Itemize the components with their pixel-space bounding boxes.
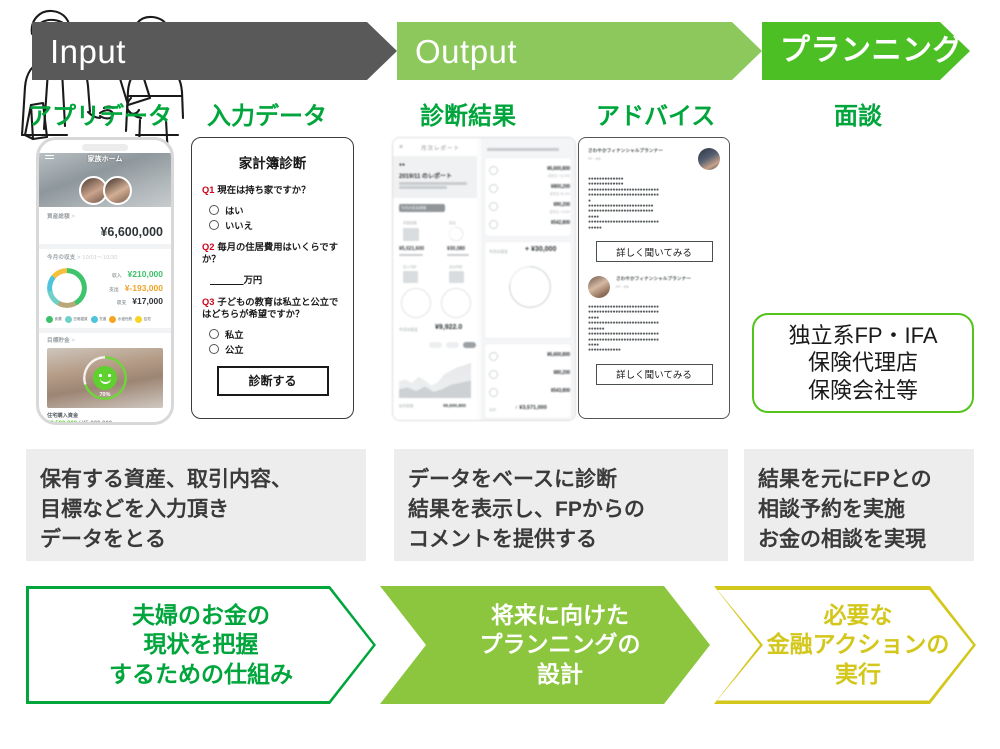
flow-arrow-input: Input	[32, 22, 397, 80]
process-flow-arrows: Input Output プランニング	[0, 22, 1000, 80]
total-assets-value: ¥6,600,000	[47, 225, 163, 239]
balance-label: 今月の収支	[399, 328, 418, 333]
highlight-value: + ¥30,000	[525, 246, 556, 253]
bubble-line-1: 独立系FP・IFA	[788, 322, 937, 350]
meeting-callout-bubble: 独立系FP・IFA 保険代理店 保険会社等	[752, 313, 974, 413]
bullet-icon	[489, 166, 498, 175]
list-item: 水道光熱	[109, 316, 132, 323]
donut-chart	[509, 266, 551, 308]
chevron-line: するための仕組み	[109, 661, 293, 687]
question-2: Q2毎月の住居費用はいくらですか？	[202, 241, 343, 266]
table-row	[489, 202, 498, 211]
radio-icon[interactable]	[209, 344, 219, 354]
radio-option[interactable]: はい	[209, 203, 343, 217]
caption-line: 相談予約を実施	[758, 495, 960, 525]
list-value: ¥6,600,800	[547, 352, 570, 358]
caption-line: データをとる	[40, 525, 352, 555]
chart-footer-label: 総資産額	[399, 404, 413, 409]
caption-line: お金の相談を実現	[758, 525, 960, 555]
planner-header-2: さわやかフィナンシャルプランナー FP・IFA	[588, 276, 720, 298]
radio-icon[interactable]	[209, 329, 219, 339]
list-subvalue: 前年比 +12,000	[548, 173, 570, 178]
goal-percent: 70%	[99, 392, 110, 398]
table-row	[489, 388, 498, 397]
chevron-line: 必要な	[797, 602, 892, 628]
bullet-icon	[489, 220, 498, 229]
summary-chevron-2: 将来に向けた プランニングの 設計	[380, 586, 710, 704]
metric-label: 収入内訳	[403, 264, 417, 269]
list-value: ¥543,800	[551, 388, 570, 394]
planner-header-1: さわやかフィナンシャルプランナー FP・IFA	[588, 148, 720, 170]
list-subvalue: 前年比 ¥9,200	[550, 191, 570, 196]
column-heading-diagnosis: 診断結果	[420, 96, 516, 131]
bullet-icon	[489, 352, 498, 361]
table-row	[489, 184, 498, 193]
report-amount-right: ¥30,080	[447, 246, 465, 252]
caption-line: データをベースに診断	[408, 465, 714, 495]
goal-image: 70%	[47, 348, 163, 408]
table-row: 収入¥210,000	[109, 269, 163, 279]
report-author: ●●	[399, 162, 405, 168]
column-heading-meeting: 面談	[834, 96, 882, 131]
monthly-balance-rows: 収入¥210,000 支出¥-193,000 収支¥17,000	[109, 269, 163, 310]
learn-more-button-2[interactable]: 詳しく聞いてみる	[596, 364, 713, 385]
list-value: ¥800,200	[551, 184, 570, 190]
avatar	[698, 148, 720, 170]
list-value: ¥6,600,800	[547, 166, 570, 172]
redacted-comment-text-2: ●●●●●●●●●●●●●●●●●●●●●●●●●●●●●●●●●●●●●●●●…	[588, 305, 720, 354]
bullet-icon	[489, 202, 498, 211]
chevron-line: 将来に向けた	[461, 602, 629, 628]
radio-option[interactable]: 公立	[209, 342, 343, 356]
bubble-line-3: 保険会社等	[808, 377, 918, 405]
questionnaire-title: 家計簿診断	[202, 152, 343, 172]
table-row: 支出¥-193,000	[109, 283, 163, 293]
list-value: ¥542,800	[551, 220, 570, 226]
radio-icon[interactable]	[209, 220, 219, 230]
learn-more-button-1[interactable]: 詳しく聞いてみる	[596, 241, 713, 262]
smiley-icon	[93, 366, 117, 390]
diagnosis-report-screenshot: × 月次レポート ●● 2019/11 のレポート 今月の収支詳細 資産総額 収…	[392, 137, 576, 421]
list-item: 交通	[91, 316, 107, 323]
list-item: 住宅	[135, 316, 151, 323]
donut-chart	[401, 288, 431, 318]
planner-subtitle: FP・IFA	[616, 284, 720, 289]
table-row	[489, 370, 498, 379]
chevron-line: 夫婦のお金の	[132, 602, 270, 628]
table-row: 収支¥17,000	[109, 296, 163, 306]
category-chip-list: 食費 日用雑貨 交通 水道光熱 住宅	[46, 316, 164, 323]
metric-label: 資産総額	[403, 220, 417, 225]
list-value: ¥90,200	[553, 202, 570, 208]
caption-line: コメントを提供する	[408, 525, 714, 555]
metric-label: 支出内訳	[449, 264, 463, 269]
table-row	[489, 166, 498, 175]
submit-diagnosis-button[interactable]: 診断する	[217, 366, 329, 396]
flow-arrow-output-label: Output	[397, 35, 517, 68]
caption-box-planning: 結果を元にFPとの 相談予約を実施 お金の相談を実現	[744, 449, 974, 561]
radio-option[interactable]: 私立	[209, 327, 343, 341]
filter-chip[interactable]	[429, 342, 442, 348]
footer-label: 合計	[489, 408, 496, 413]
question-2-input[interactable]: 万円	[210, 272, 343, 286]
report-filter-chips[interactable]	[429, 342, 476, 348]
balance-value: ¥9,922.0	[435, 324, 462, 331]
table-row	[489, 352, 498, 361]
report-icon	[449, 271, 464, 283]
caption-box-input: 保有する資産、取引内容、 目標などを入力頂き データをとる	[26, 449, 366, 561]
question-1-options: はい いいえ	[209, 203, 343, 232]
planner-name: さわやかフィナンシャルプランナー	[616, 276, 720, 282]
redacted-comment-text-1: ●●●●●●●●●●●●●●●●●●●●●●●●●●●●●●●●●●●●●●●●…	[588, 177, 720, 231]
question-3-options: 私立 公立	[209, 327, 343, 356]
caption-line: 保有する資産、取引内容、	[40, 465, 352, 495]
metric-label: 収支	[449, 220, 456, 225]
goal-savings-label: 目標貯金 >	[47, 336, 163, 344]
app-screenshot-phone: 家族ホーム 資産総額 > ¥6,600,000 今月の収支 > 10/01～10…	[36, 137, 174, 425]
placeholder-bar	[399, 254, 423, 256]
table-row	[489, 220, 498, 229]
column-heading-advice: アドバイス	[596, 96, 715, 131]
monthly-balance-label: 今月の収支 > 10/01～10/30	[47, 253, 163, 261]
placeholder-bar	[487, 148, 559, 151]
chevron-line: 金融アクションの	[741, 631, 950, 657]
question-1: Q1現在は持ち家ですか？	[202, 184, 343, 197]
caption-line: 結果を元にFPとの	[758, 465, 960, 495]
report-title: 月次レポート	[421, 144, 460, 152]
advice-screenshot: さわやかフィナンシャルプランナー FP・IFA ●●●●●●●●●●●●●●●●…	[578, 137, 730, 419]
chevron-line: 設計	[507, 661, 583, 687]
goal-name: 住宅購入資金	[47, 412, 163, 419]
bullet-icon	[489, 370, 498, 379]
avatar	[103, 176, 132, 205]
footer-total: ↑ ¥3,571,000	[515, 405, 547, 411]
questionnaire-card: 家計簿診断 Q1現在は持ち家ですか？ はい いいえ Q2毎月の住居費用はいくらで…	[191, 137, 354, 419]
caption-box-output: データをベースに診断 結果を表示し、FPからの コメントを提供する	[394, 449, 728, 561]
highlight-label: 今月の収支	[489, 250, 508, 255]
report-heading: 2019/11 のレポート	[399, 171, 452, 180]
list-value: ¥80,200	[553, 370, 570, 376]
chevron-line: プランニングの	[450, 631, 641, 657]
radio-icon[interactable]	[209, 205, 219, 215]
filter-chip-active[interactable]	[463, 342, 476, 348]
column-heading-app-data: アプリデータ	[28, 96, 172, 131]
phone-notch	[82, 144, 128, 151]
column-heading-input-data: 入力データ	[207, 96, 327, 131]
radio-option[interactable]: いいえ	[209, 218, 343, 232]
donut-chart	[441, 288, 471, 318]
caption-line: 結果を表示し、FPからの	[408, 495, 714, 525]
total-assets-label: 資産総額 >	[47, 212, 163, 220]
list-subvalue: 前年比 +3,000	[550, 209, 570, 214]
mini-donut-chart	[449, 227, 463, 241]
placeholder-bar	[399, 182, 467, 185]
chevron-line: 実行	[809, 661, 881, 687]
divider	[39, 328, 171, 333]
summary-chevron-3: 必要な 金融アクションの 実行	[714, 586, 976, 704]
bullet-icon	[489, 388, 498, 397]
placeholder-bar	[447, 254, 469, 256]
placeholder-bar	[399, 186, 447, 189]
avatar	[588, 276, 610, 298]
question-3: Q3子どもの教育は私立と公立ではどちらが希望ですか？	[202, 296, 343, 321]
goal-amount: ¥3,500,000 / ¥5,000,000	[47, 421, 163, 425]
close-icon[interactable]: ×	[399, 144, 403, 151]
list-item: 日用雑貨	[65, 316, 88, 323]
summary-chevron-1: 夫婦のお金の 現状を把握 するための仕組み	[26, 586, 376, 704]
planner-subtitle: FP・IFA	[588, 156, 692, 161]
flow-arrow-input-label: Input	[32, 35, 126, 68]
report-amount-left: ¥5,021,600	[399, 246, 424, 252]
filter-chip[interactable]	[446, 342, 459, 348]
month-range: 10/01～10/30	[82, 255, 117, 261]
report-badge-label: 今月の収支詳細	[401, 206, 426, 211]
app-header-title: 家族ホーム	[39, 154, 171, 164]
chart-footer-value: ¥6,600,800	[443, 403, 466, 408]
flow-arrow-planning-label: プランニング	[762, 36, 963, 66]
divider	[39, 244, 171, 249]
flow-arrow-planning: プランニング	[762, 22, 970, 80]
report-icon	[403, 271, 418, 283]
bullet-icon	[489, 184, 498, 193]
bubble-line-2: 保険代理店	[808, 349, 918, 377]
expense-donut-chart	[47, 268, 87, 308]
report-icon	[403, 228, 419, 241]
planner-name: さわやかフィナンシャルプランナー	[588, 148, 692, 154]
chevron-line: 現状を把握	[144, 631, 259, 657]
caption-line: 目標などを入力頂き	[40, 495, 352, 525]
flow-arrow-output: Output	[397, 22, 762, 80]
list-item: 食費	[46, 316, 62, 323]
